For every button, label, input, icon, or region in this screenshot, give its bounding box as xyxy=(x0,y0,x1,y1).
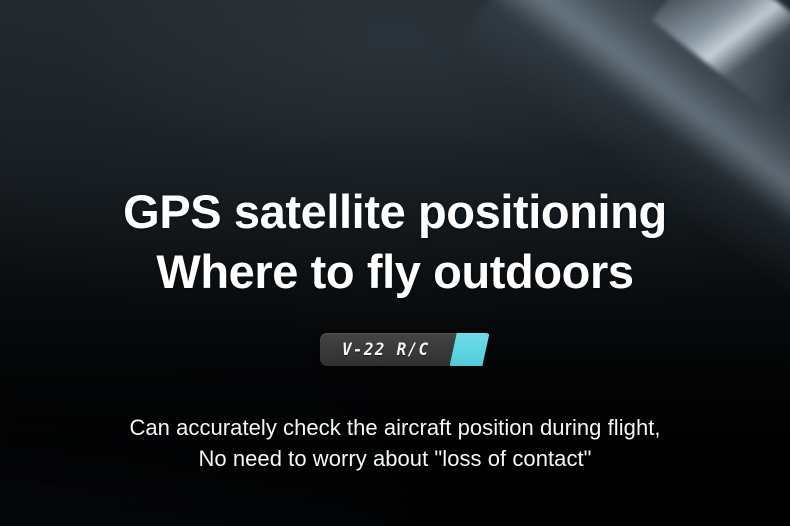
badge-accent-block xyxy=(450,333,490,366)
subheadline-line-2: No need to worry about "loss of contact" xyxy=(0,443,790,474)
headline-line-2: Where to fly outdoors xyxy=(0,242,790,302)
banner-content: GPS satellite positioning Where to fly o… xyxy=(0,0,790,526)
headline-line-1: GPS satellite positioning xyxy=(0,182,790,242)
subheadline-line-1: Can accurately check the aircraft positi… xyxy=(0,412,790,443)
promo-banner: GPS satellite positioning Where to fly o… xyxy=(0,0,790,526)
headline: GPS satellite positioning Where to fly o… xyxy=(0,182,790,302)
model-badge: V-22 R/C xyxy=(320,333,469,366)
model-badge-label: V-22 R/C xyxy=(342,340,430,360)
subheadline: Can accurately check the aircraft positi… xyxy=(0,412,790,474)
badge-row: V-22 R/C xyxy=(0,333,790,366)
